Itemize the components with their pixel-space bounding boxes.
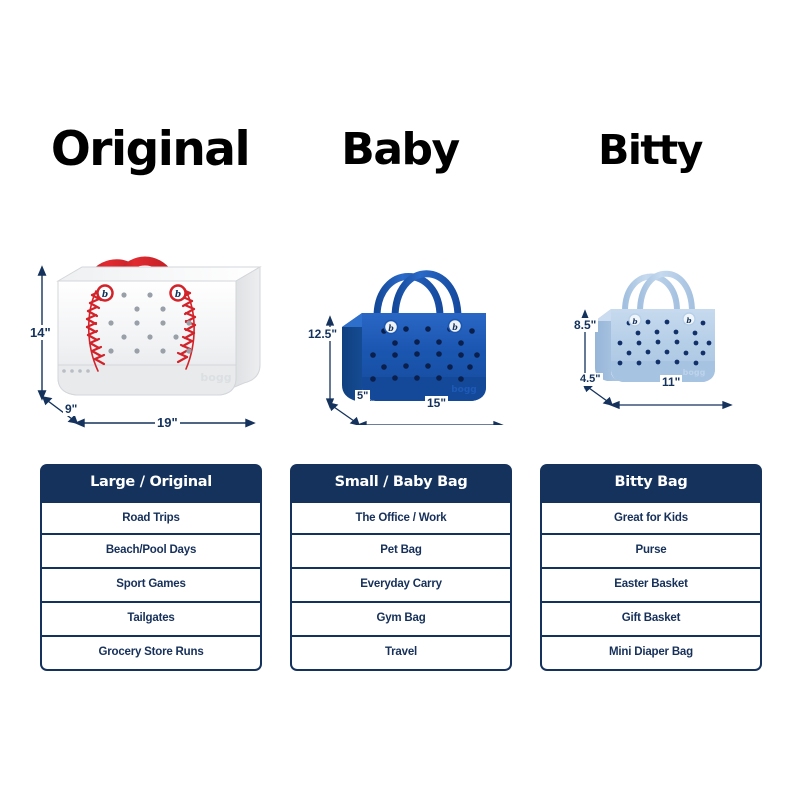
table-row: The Office / Work [290,501,512,535]
dimension-width-bitty: 11" [660,375,682,389]
dimension-height-bitty: 8.5" [572,318,598,332]
use-case-table-original: Large / Original Road Trips Beach/Pool D… [40,464,262,671]
table-row: Travel [290,637,512,671]
bag-logo-button-right: b [683,313,695,325]
bag-logo-button-right: b [449,320,462,333]
table-row: Easter Basket [540,569,762,603]
dimension-width-baby: 15" [425,396,448,410]
bag-top-rim [58,267,260,281]
dimension-depth-original: 9" [63,402,79,416]
svg-text:b: b [388,323,394,333]
use-case-table-baby: Small / Baby Bag The Office / Work Pet B… [290,464,512,671]
table-header-baby: Small / Baby Bag [290,464,512,501]
table-row: Pet Bag [290,535,512,569]
table-row: Purse [540,535,762,569]
bag-logo-button-left: b [98,286,113,301]
table-row: Great for Kids [540,501,762,535]
size-comparison-page: Original [0,0,800,800]
bag-logo-button-right: b [171,286,186,301]
table-row: Gym Bag [290,603,512,637]
bag-illustration-baby: b b bogg [300,205,550,425]
table-header-original: Large / Original [40,464,262,501]
table-row: Everyday Carry [290,569,512,603]
table-row: Gift Basket [540,603,762,637]
product-title-baby: Baby [295,128,505,172]
table-row: Road Trips [40,501,262,535]
product-title-original: Original [20,126,280,173]
svg-text:b: b [175,290,181,300]
svg-text:b: b [452,322,458,332]
table-row: Grocery Store Runs [40,637,262,671]
bag-handles [377,274,458,318]
bag-illustration-original: b b bogg [20,195,290,435]
dimension-depth-baby: 5" [355,390,370,403]
svg-text:b: b [102,290,108,300]
bag-brand-text: bogg [200,371,231,384]
table-header-bitty: Bitty Bag [540,464,762,501]
bag-logo-button-left: b [385,321,398,334]
dimension-width-original: 19" [155,415,180,430]
dimension-depth-bitty: 4.5" [578,373,603,386]
svg-text:b: b [632,317,637,326]
table-row: Tailgates [40,603,262,637]
dimension-height-baby: 12.5" [306,327,339,341]
bag-handles [625,274,692,312]
bag-brand-text: bogg [451,385,477,395]
table-row: Mini Diaper Bag [540,637,762,671]
svg-text:b: b [686,316,691,325]
use-case-table-bitty: Bitty Bag Great for Kids Purse Easter Ba… [540,464,762,671]
dimension-height-original: 14" [28,325,53,340]
table-row: Beach/Pool Days [40,535,262,569]
product-title-bitty: Bitty [545,130,755,171]
bag-brand-text: bogg [683,368,706,377]
bag-logo-button-left: b [629,314,641,326]
table-row: Sport Games [40,569,262,603]
